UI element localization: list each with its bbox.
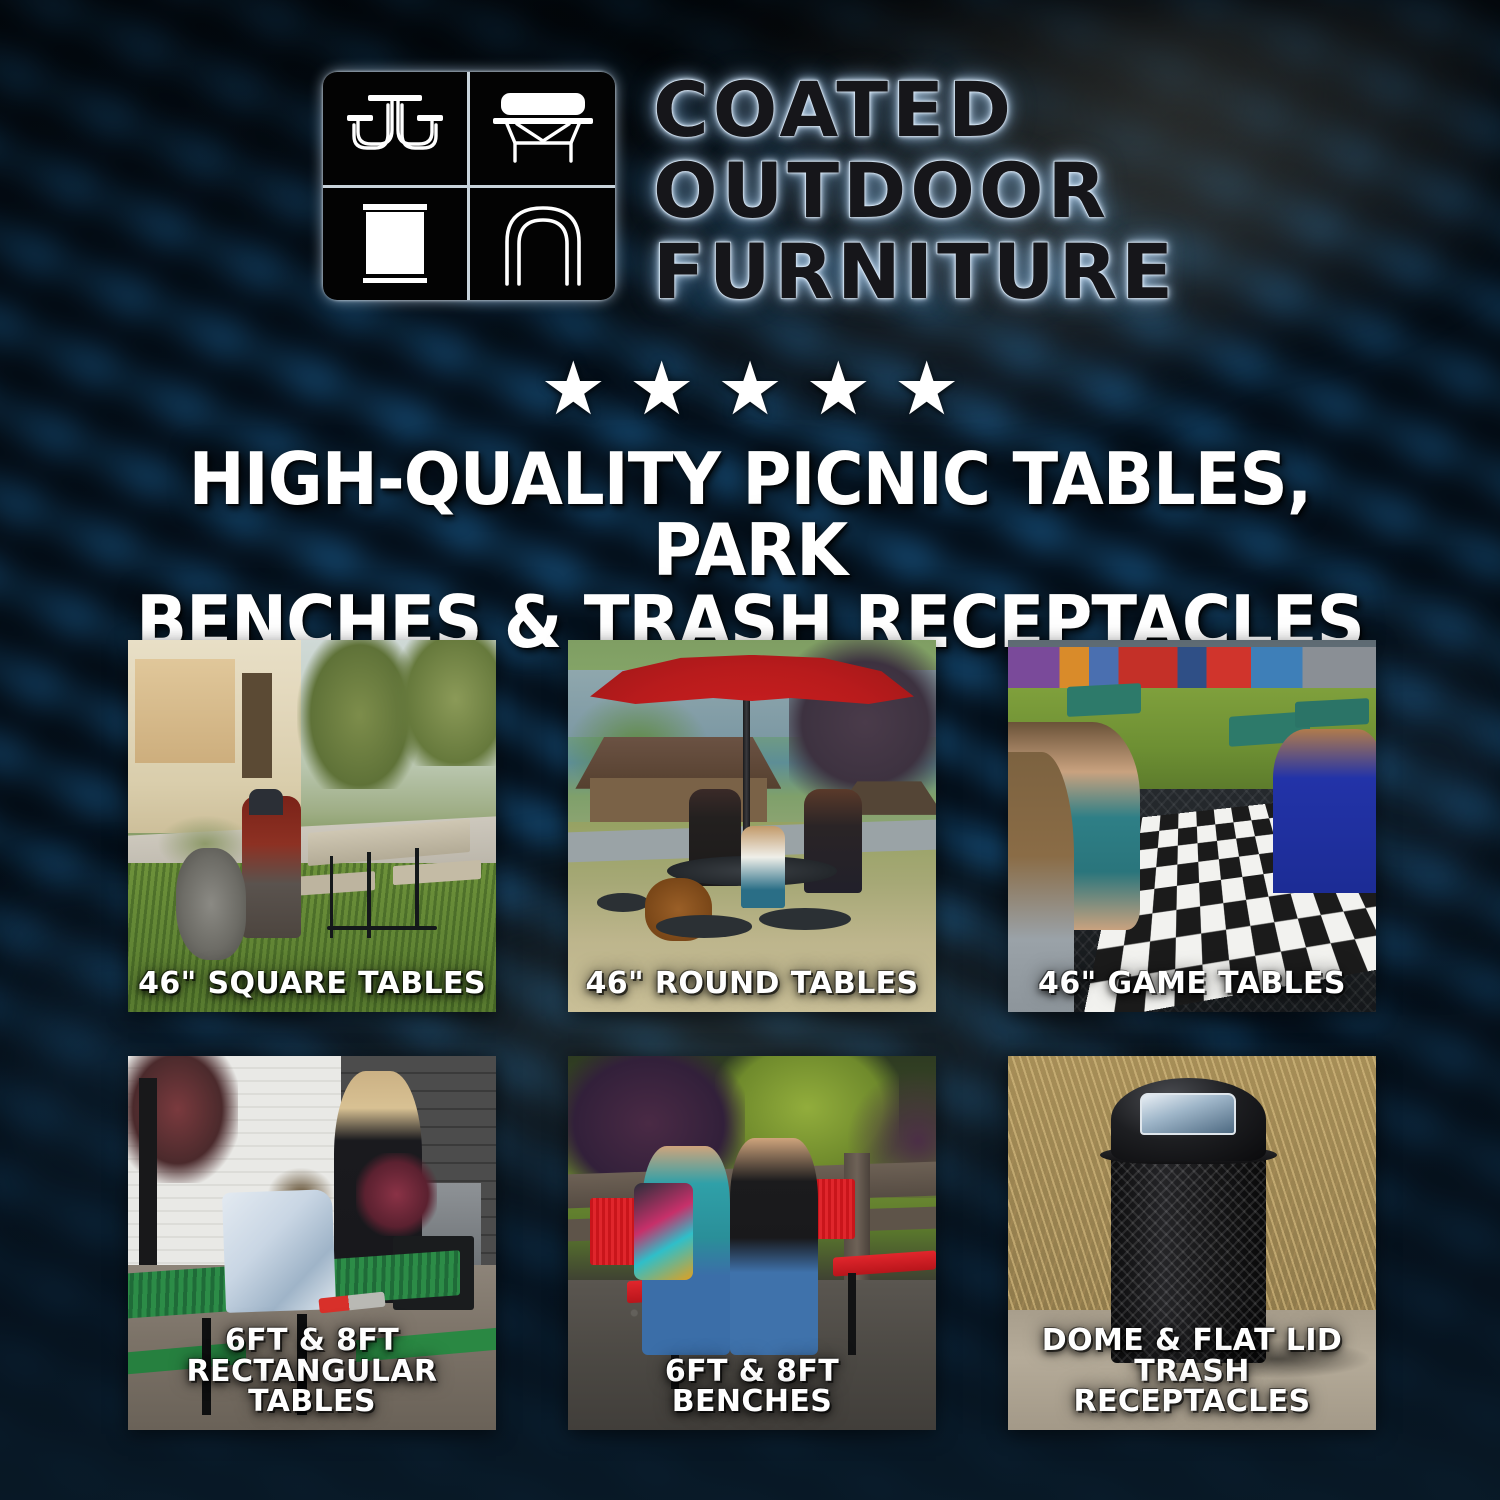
product-tile-game-tables[interactable]: 46" GAME TABLES — [1008, 640, 1376, 1012]
picnic-table-icon — [323, 72, 468, 185]
caption-line-1: 6FT & 8FT — [225, 1323, 399, 1358]
brand-word-outdoor: OUTDOOR — [653, 155, 1177, 228]
product-tile-caption: 46" GAME TABLES — [1014, 969, 1370, 1000]
round-tables-photo — [568, 640, 936, 1012]
game-tables-photo — [1008, 640, 1376, 1012]
brand-logo: COATED OUTDOOR FURNITURE — [0, 72, 1500, 309]
promo-banner: COATED OUTDOOR FURNITURE ★★★★★ HIGH-QUAL… — [0, 0, 1500, 1500]
product-tile-benches[interactable]: 6FT & 8FT BENCHES — [568, 1056, 936, 1430]
caption-line-1: 46" SQUARE TABLES — [138, 966, 486, 1001]
caption-line-2: BENCHES — [574, 1387, 930, 1418]
headline-line-1: HIGH-QUALITY PICNIC TABLES, PARK — [189, 437, 1312, 592]
page-title: HIGH-QUALITY PICNIC TABLES, PARK BENCHES… — [108, 444, 1391, 658]
caption-line-2: RECTANGULAR TABLES — [134, 1357, 490, 1418]
product-category-grid: 46" SQUARE TABLES 46" ROUND TABLES — [128, 640, 1372, 1430]
product-tile-trash-receptacles[interactable]: DOME & FLAT LID TRASH RECEPTACLES — [1008, 1056, 1376, 1430]
flat-lid-trash-receptacle-icon — [323, 188, 468, 301]
square-tables-photo — [128, 640, 496, 1012]
product-tile-round-tables[interactable]: 46" ROUND TABLES — [568, 640, 936, 1012]
logo-icon-grid — [323, 72, 615, 300]
product-tile-caption: 6FT & 8FT BENCHES — [574, 1357, 930, 1418]
park-bench-icon — [470, 72, 615, 185]
product-tile-caption: 6FT & 8FT RECTANGULAR TABLES — [134, 1326, 490, 1418]
product-tile-rectangular-tables[interactable]: 6FT & 8FT RECTANGULAR TABLES — [128, 1056, 496, 1430]
product-tile-caption: 46" ROUND TABLES — [574, 969, 930, 1000]
dome-lid-trash-receptacle-icon — [470, 188, 615, 301]
product-tile-square-tables[interactable]: 46" SQUARE TABLES — [128, 640, 496, 1012]
caption-line-2: TRASH RECEPTACLES — [1014, 1357, 1370, 1418]
product-tile-caption: 46" SQUARE TABLES — [134, 969, 490, 1000]
brand-word-coated: COATED — [653, 74, 1177, 147]
brand-word-furniture: FURNITURE — [653, 236, 1177, 309]
product-tile-caption: DOME & FLAT LID TRASH RECEPTACLES — [1014, 1326, 1370, 1418]
caption-line-1: 46" GAME TABLES — [1038, 966, 1346, 1001]
five-star-rating: ★★★★★ — [0, 352, 1500, 426]
caption-line-1: DOME & FLAT LID — [1042, 1323, 1342, 1358]
caption-line-1: 46" ROUND TABLES — [585, 966, 918, 1001]
brand-wordmark: COATED OUTDOOR FURNITURE — [653, 72, 1177, 309]
